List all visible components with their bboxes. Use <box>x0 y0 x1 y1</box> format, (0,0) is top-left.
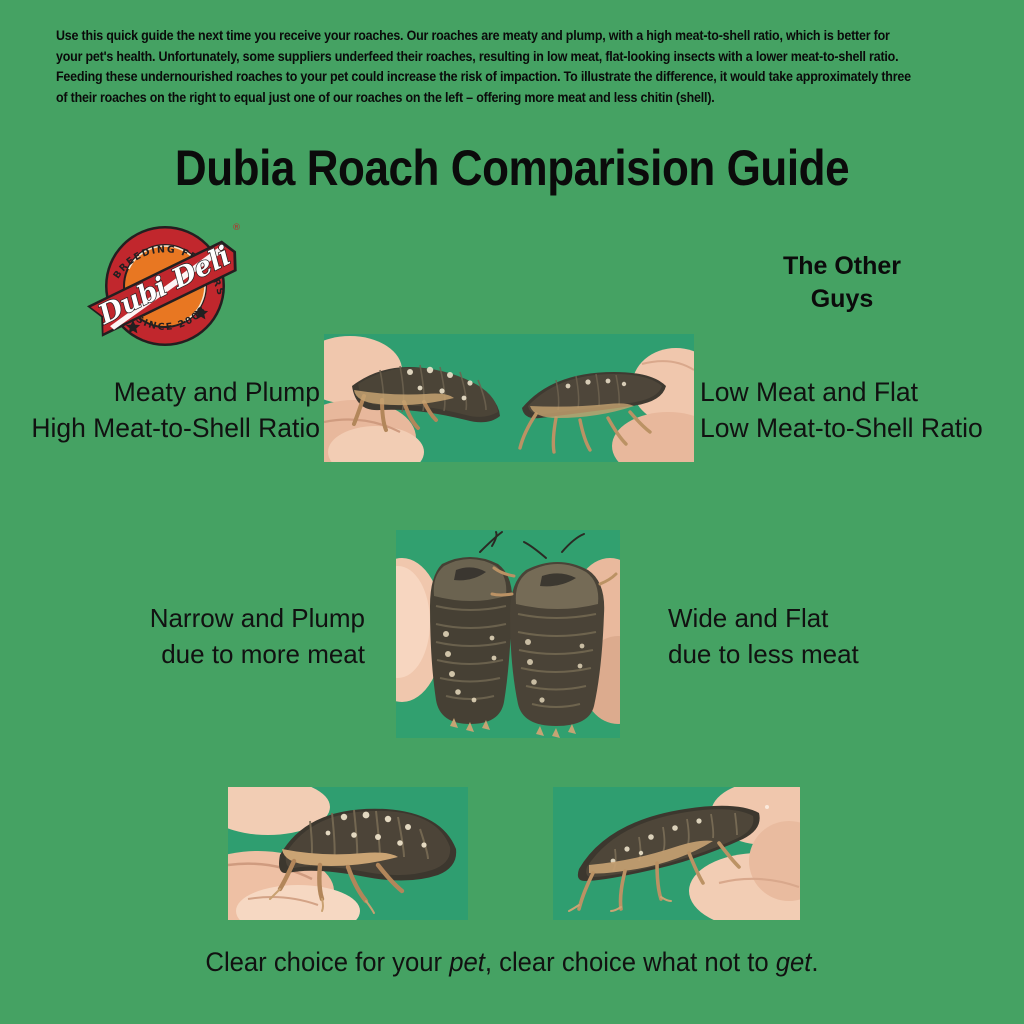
row1-right-line-2: Low Meat-to-Shell Ratio <box>700 410 1024 446</box>
row2-right-caption: Wide and Flat due to less meat <box>668 600 1008 672</box>
page-title: Dubia Roach Comparision Guide <box>61 139 962 197</box>
bottom-left-photo <box>228 787 468 920</box>
row1-left-caption: Meaty and Plump High Meat-to-Shell Ratio <box>0 374 320 446</box>
row1-right-line-1: Low Meat and Flat <box>700 374 1024 410</box>
svg-text:®: ® <box>232 223 241 233</box>
bottom-right-photo <box>553 787 800 920</box>
footer-caption: Clear choice for your pet, clear choice … <box>26 944 999 980</box>
row2-left-caption: Narrow and Plump due to more meat <box>0 600 365 672</box>
row2-comparison-photo <box>396 530 620 738</box>
footer-part-2: , clear choice what not to <box>485 947 776 977</box>
footer-part-1: Clear choice for your <box>205 947 449 977</box>
row1-right-caption: Low Meat and Flat Low Meat-to-Shell Rati… <box>700 374 1024 446</box>
row2-left-line-1: Narrow and Plump <box>0 600 365 636</box>
row2-right-line-2: due to less meat <box>668 636 1008 672</box>
other-guys-line-2: Guys <box>742 283 942 316</box>
other-guys-heading: The Other Guys <box>742 250 942 316</box>
row1-left-line-1: Meaty and Plump <box>0 374 320 410</box>
row2-left-line-2: due to more meat <box>0 636 365 672</box>
footer-emphasis-get: get <box>776 947 812 977</box>
footer-part-3: . <box>811 947 818 977</box>
dubi-deli-logo: BREEDING FEEDERS SINCE 2008 Dubi Deli ® <box>84 208 246 353</box>
footer-emphasis-pet: pet <box>449 947 485 977</box>
other-guys-line-1: The Other <box>742 250 942 283</box>
row1-left-line-2: High Meat-to-Shell Ratio <box>0 410 320 446</box>
row1-comparison-photo <box>324 334 694 462</box>
poster-canvas: Use this quick guide the next time you r… <box>0 0 1024 1024</box>
row2-right-line-1: Wide and Flat <box>668 600 1008 636</box>
intro-paragraph: Use this quick guide the next time you r… <box>56 26 912 108</box>
